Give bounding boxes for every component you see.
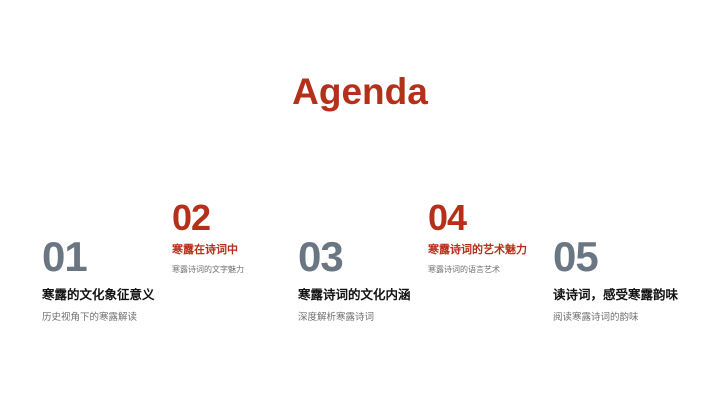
agenda-item-number: 04 bbox=[428, 200, 527, 236]
agenda-item-subtitle: 阅读寒露诗词的韵味 bbox=[553, 312, 678, 323]
agenda-item-04[interactable]: 04 寒露诗词的艺术魅力 寒露诗词的语言艺术 bbox=[428, 200, 527, 275]
agenda-item-subtitle: 深度解析寒露诗词 bbox=[298, 312, 411, 323]
agenda-item-title: 寒露诗词的文化内涵 bbox=[298, 288, 411, 303]
agenda-item-02[interactable]: 02 寒露在诗词中 寒露诗词的文字魅力 bbox=[172, 200, 244, 275]
agenda-item-subtitle: 寒露诗词的文字魅力 bbox=[172, 265, 244, 275]
agenda-item-title: 寒露在诗词中 bbox=[172, 244, 244, 257]
agenda-slide: Agenda 01 寒露的文化象征意义 历史视角下的寒露解读 02 寒露在诗词中… bbox=[0, 0, 720, 404]
agenda-item-subtitle: 历史视角下的寒露解读 bbox=[42, 312, 155, 323]
agenda-item-number: 05 bbox=[553, 236, 678, 278]
agenda-item-title: 寒露的文化象征意义 bbox=[42, 288, 155, 303]
agenda-item-number: 01 bbox=[42, 236, 155, 278]
agenda-item-number: 03 bbox=[298, 236, 411, 278]
agenda-item-03[interactable]: 03 寒露诗词的文化内涵 深度解析寒露诗词 bbox=[298, 236, 411, 323]
agenda-item-subtitle: 寒露诗词的语言艺术 bbox=[428, 265, 527, 275]
agenda-item-01[interactable]: 01 寒露的文化象征意义 历史视角下的寒露解读 bbox=[42, 236, 155, 323]
agenda-item-title: 读诗词，感受寒露韵味 bbox=[553, 288, 678, 303]
agenda-item-number: 02 bbox=[172, 200, 244, 236]
page-title: Agenda bbox=[0, 72, 720, 113]
agenda-item-title: 寒露诗词的艺术魅力 bbox=[428, 244, 527, 257]
agenda-item-05[interactable]: 05 读诗词，感受寒露韵味 阅读寒露诗词的韵味 bbox=[553, 236, 678, 323]
